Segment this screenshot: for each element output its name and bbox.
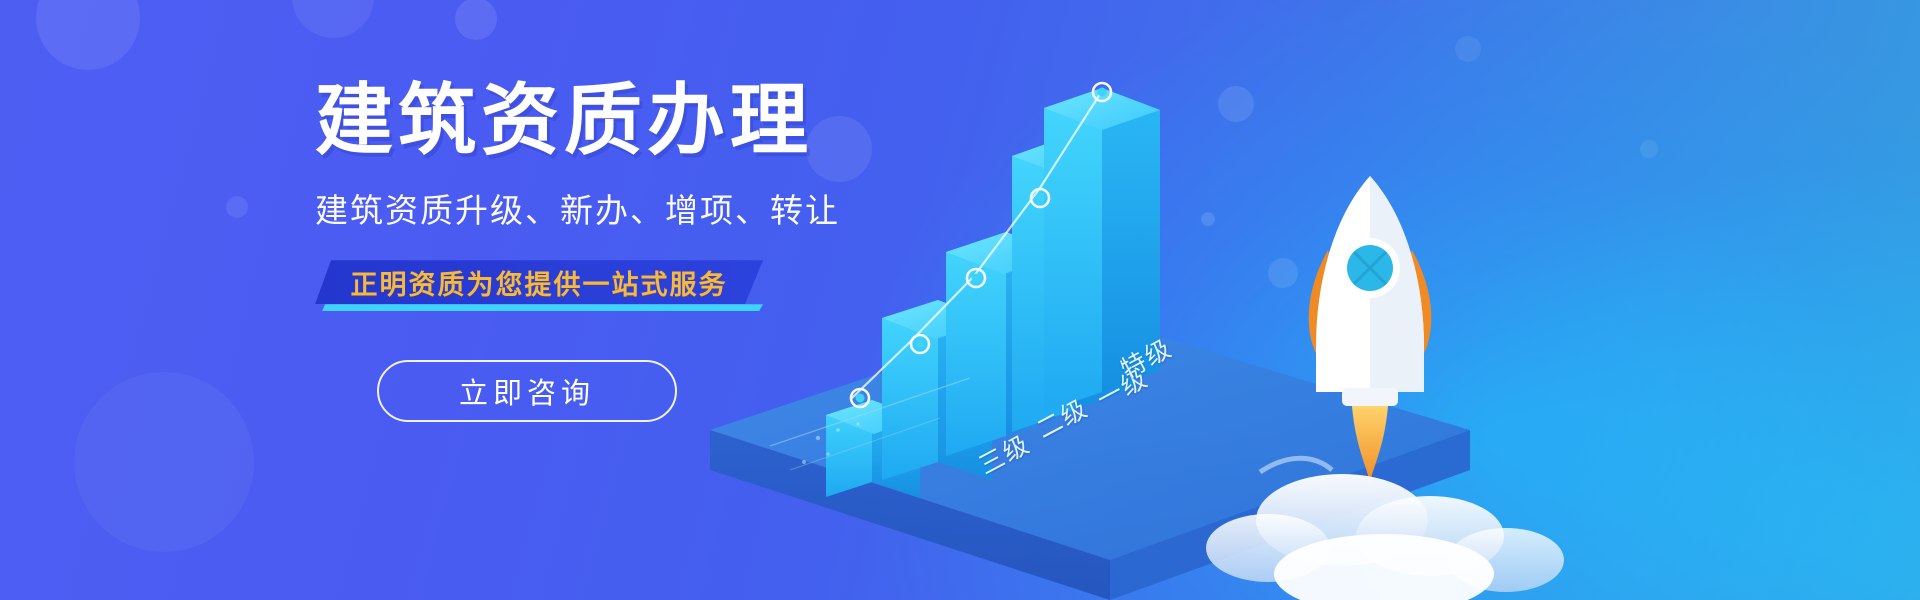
consult-now-button[interactable]: 立即咨询 — [377, 360, 677, 422]
rocket-nozzle — [1342, 388, 1398, 406]
promo-banner: 建筑资质办理 建筑资质升级、新办、增项、转让 正明资质为您提供一站式服务 立即咨… — [0, 0, 1920, 600]
bokeh-circle — [226, 196, 248, 218]
bokeh-circle — [36, 0, 140, 70]
chart-and-rocket-svg — [640, 0, 1920, 600]
consult-now-label: 立即咨询 — [459, 370, 595, 412]
bokeh-circle — [292, 0, 374, 38]
bokeh-circle — [455, 0, 497, 40]
hero-illustration: 三级 二级 一级 特级 — [640, 0, 1920, 600]
bokeh-circle — [74, 372, 254, 552]
